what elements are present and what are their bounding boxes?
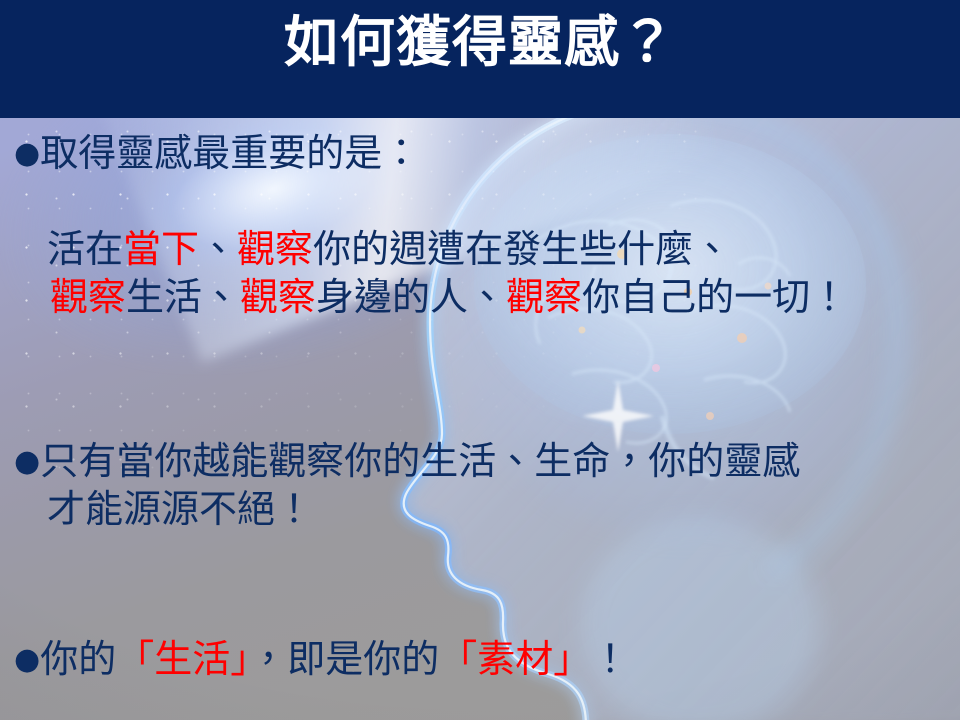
emphasis-l2-seg5: 觀察 <box>506 275 582 319</box>
emphasis-l1-seg1: 活在 <box>47 227 123 271</box>
bullet-3-seg4: 「素材」 <box>439 637 591 681</box>
emphasis-l2-seg3: 觀察 <box>240 275 316 319</box>
bullet-1-line: ●取得靈感最重要的是： <box>14 130 954 178</box>
slide-body: ●取得靈感最重要的是： 活在當下、觀察你的週遭在發生些什麼、 觀察生活、觀察身邊… <box>0 118 960 720</box>
bullet-2-text-1: 只有當你越能觀察你的生活、生命，你的靈感 <box>40 439 800 483</box>
bullet-2-line-1: ●只有當你越能觀察你的生活、生命，你的靈感 <box>14 438 954 486</box>
bullet-dot-icon: ● <box>14 642 40 677</box>
bullet-item-2: ●只有當你越能觀察你的生活、生命，你的靈感 才能源源不絕！ <box>14 438 954 533</box>
bullet-3-seg3: ，即是你的 <box>249 637 439 681</box>
emphasis-line-2: 觀察生活、觀察身邊的人、觀察你自己的一切！ <box>14 274 954 322</box>
emphasis-l1-seg2: 當下 <box>123 227 199 271</box>
bullet-3-seg1: 你的 <box>40 637 116 681</box>
bullet-dot-icon: ● <box>14 444 40 479</box>
bullet-2-line-2: 才能源源不絕！ <box>14 486 954 534</box>
bullet-3-seg5: ！ <box>591 637 629 681</box>
bullet-1-text: 取得靈感最重要的是： <box>40 131 420 175</box>
emphasis-l2-seg6: 你自己的一切！ <box>582 275 848 319</box>
emphasis-l2-seg1: 觀察 <box>50 275 126 319</box>
emphasis-l1-seg5: 你的週遭在發生些什麼、 <box>313 227 731 271</box>
emphasis-l2-seg4: 身邊的人、 <box>316 275 506 319</box>
title-banner: 如何獲得靈感？ <box>0 0 960 118</box>
emphasis-paragraph: 活在當下、觀察你的週遭在發生些什麼、 觀察生活、觀察身邊的人、觀察你自己的一切！ <box>14 226 954 321</box>
emphasis-l2-seg2: 生活、 <box>126 275 240 319</box>
bullet-item-1: ●取得靈感最重要的是： <box>14 130 954 178</box>
emphasis-l1-seg4: 觀察 <box>237 227 313 271</box>
emphasis-line-1: 活在當下、觀察你的週遭在發生些什麼、 <box>14 226 954 274</box>
bullet-dot-icon: ● <box>14 136 40 171</box>
emphasis-l1-seg3: 、 <box>199 227 237 271</box>
bullet-3-line: ●你的「生活」，即是你的「素材」！ <box>14 636 954 684</box>
slide-root: 如何獲得靈感？ ●取得靈感最重要的是： 活在當下、觀察你的週遭在發生些什麼、 觀… <box>0 0 960 720</box>
bullet-3-seg2: 「生活」 <box>116 637 249 681</box>
bullet-item-3: ●你的「生活」，即是你的「素材」！ <box>14 636 954 684</box>
slide-title: 如何獲得靈感？ <box>0 12 960 73</box>
